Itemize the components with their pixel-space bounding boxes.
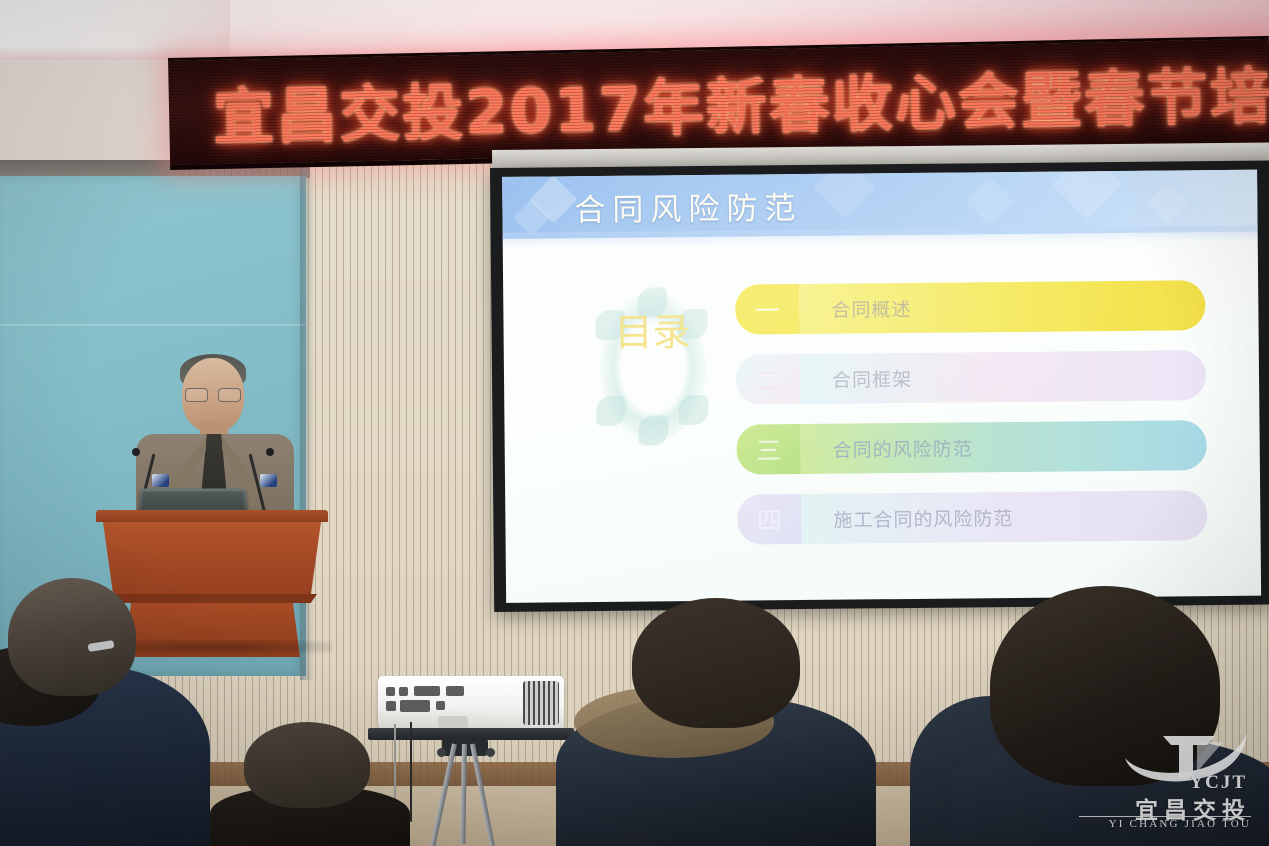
glasses-icon — [185, 388, 241, 400]
projector-cable-2 — [410, 722, 412, 822]
toc-item-4[interactable]: 四 施工合同的风险防范 — [737, 490, 1207, 545]
toc-number-3: 三 — [736, 424, 800, 475]
diamond-icon — [1052, 170, 1123, 220]
projector — [378, 676, 564, 730]
attendee-right — [950, 586, 1269, 846]
slide-title: 合同风险防范 — [574, 183, 802, 230]
microphone-head-right — [266, 448, 274, 456]
attendee-head — [990, 586, 1220, 786]
conference-photo: 宜昌交投2017年新春收心会暨春节培 合同风险防范 — [0, 0, 1269, 846]
attendee-center — [556, 616, 876, 846]
projector-lens-icon — [438, 716, 468, 728]
slide-canvas: 合同风险防范 目录 一 合同概述 二 — [502, 170, 1261, 603]
toc-emblem-label: 目录 — [591, 305, 714, 360]
tripod-knob-left — [437, 748, 446, 757]
attendee-head — [244, 722, 370, 808]
toc-item-1[interactable]: 一 合同概述 — [735, 280, 1205, 335]
led-banner-text: 宜昌交投2017年新春收心会暨春节培 — [212, 46, 1269, 156]
presenter-badge-right — [260, 474, 277, 487]
toc-label-1: 合同概述 — [799, 280, 1205, 334]
projector-vent — [523, 681, 559, 725]
diamond-icon — [813, 170, 875, 219]
presenter-badge-left — [152, 474, 169, 487]
attendee-head — [632, 598, 800, 728]
podium-top — [96, 510, 328, 522]
attendee-front-left — [0, 576, 230, 846]
toc-number-2: 二 — [736, 354, 800, 405]
toc-item-3[interactable]: 三 合同的风险防范 — [736, 420, 1206, 475]
toc-number-4: 四 — [737, 494, 801, 545]
toc-label-3: 合同的风险防范 — [800, 420, 1206, 474]
toc-label-2: 合同框架 — [800, 350, 1206, 404]
emblem-petal-icon — [638, 415, 668, 445]
diamond-icon — [1146, 182, 1188, 224]
emblem-petal-icon — [678, 395, 708, 425]
tripod-knob-right — [486, 748, 495, 757]
projector-ports — [386, 685, 482, 717]
emblem-petal-icon — [596, 396, 626, 426]
projection-screen: 合同风险防范 目录 一 合同概述 二 — [490, 161, 1269, 612]
toc-item-2[interactable]: 二 合同框架 — [736, 350, 1206, 405]
attendee-head — [8, 578, 136, 696]
toc-label-4: 施工合同的风险防范 — [801, 490, 1207, 544]
toc-number-1: 一 — [735, 284, 799, 335]
diamond-icon — [965, 177, 1013, 225]
toc-list: 一 合同概述 二 合同框架 三 合同的风险防范 四 施工合同的风险防范 — [735, 280, 1208, 564]
toc-emblem: 目录 — [591, 287, 715, 448]
microphone-head-left — [132, 448, 140, 456]
attendee-bottom-left — [210, 736, 410, 846]
